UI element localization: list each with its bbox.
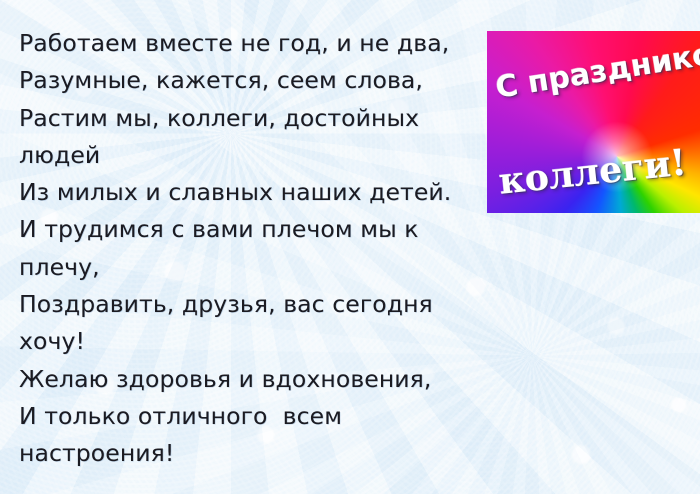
greeting-line-bottom: коллеги! <box>497 141 689 202</box>
poem-line: плечу, <box>19 249 489 286</box>
poem-line: Разумные, кажется, сеем слова, <box>19 62 489 99</box>
greeting-line-top: С праздником, <box>493 31 700 105</box>
poem-line: Работаем вместе не год, и не два, <box>19 25 489 62</box>
poem-line: Поздравить, друзья, вас сегодня <box>19 286 489 323</box>
poem-line: людей <box>19 137 489 174</box>
poem-text-block: Работаем вместе не год, и не два, Разумн… <box>19 25 489 473</box>
poem-line: настроения! <box>19 435 489 472</box>
poem-line: хочу! <box>19 323 489 360</box>
poem-line: Из милых и славных наших детей. <box>19 174 489 211</box>
poem-line: Желаю здоровья и вдохновения, <box>19 361 489 398</box>
poem-line: И трудимся с вами плечом мы к <box>19 211 489 248</box>
greeting-poem-card: Работаем вместе не год, и не два, Разумн… <box>0 0 700 494</box>
poem-line: И только отличного всем <box>19 398 489 435</box>
poem-line: Растим мы, коллеги, достойных <box>19 100 489 137</box>
rainbow-greeting-image: С праздником, коллеги! <box>487 31 700 213</box>
